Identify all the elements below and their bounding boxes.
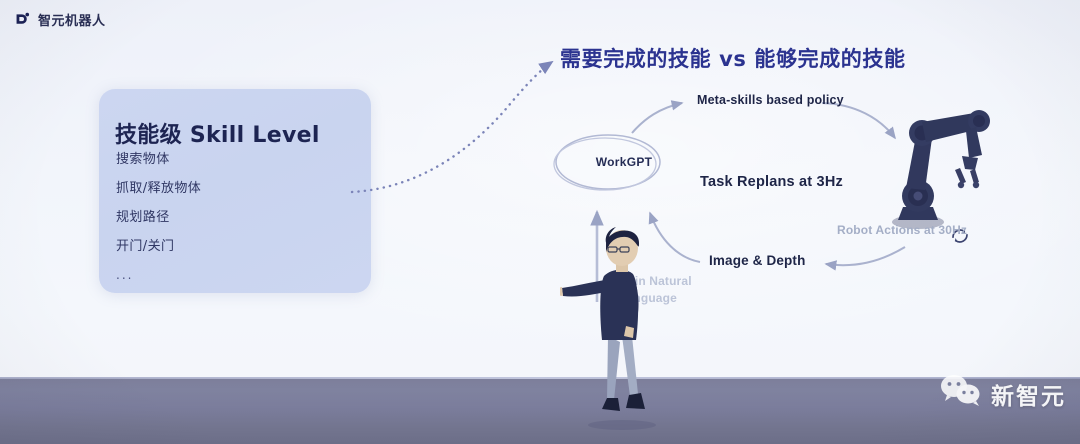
presenter-person <box>560 218 670 430</box>
wechat-icon <box>939 374 983 413</box>
label-meta-skills-policy: Meta-skills based policy <box>697 92 844 109</box>
cycle-arrow-workgpt-to-policy <box>632 103 682 133</box>
label-task-replans: Task Replans at 3Hz <box>700 173 843 192</box>
label-workgpt-node: WorkGPT <box>578 155 670 169</box>
label-robot-actions: Robot Actions at 30Hz <box>837 222 967 238</box>
watermark-text: 新智元 <box>991 377 1066 411</box>
cycle-arrow-robot-to-image <box>826 247 905 265</box>
channel-watermark: 新智元 <box>939 374 1066 413</box>
robot-arm-illustration <box>892 110 990 229</box>
presentation-photo: 智元机器人 技能级 Skill Level 搜索物体 抓取/释放物体 规划路径 … <box>0 0 1080 444</box>
dotted-pointer-arrow <box>352 62 552 192</box>
label-image-depth: Image & Depth <box>709 252 805 270</box>
